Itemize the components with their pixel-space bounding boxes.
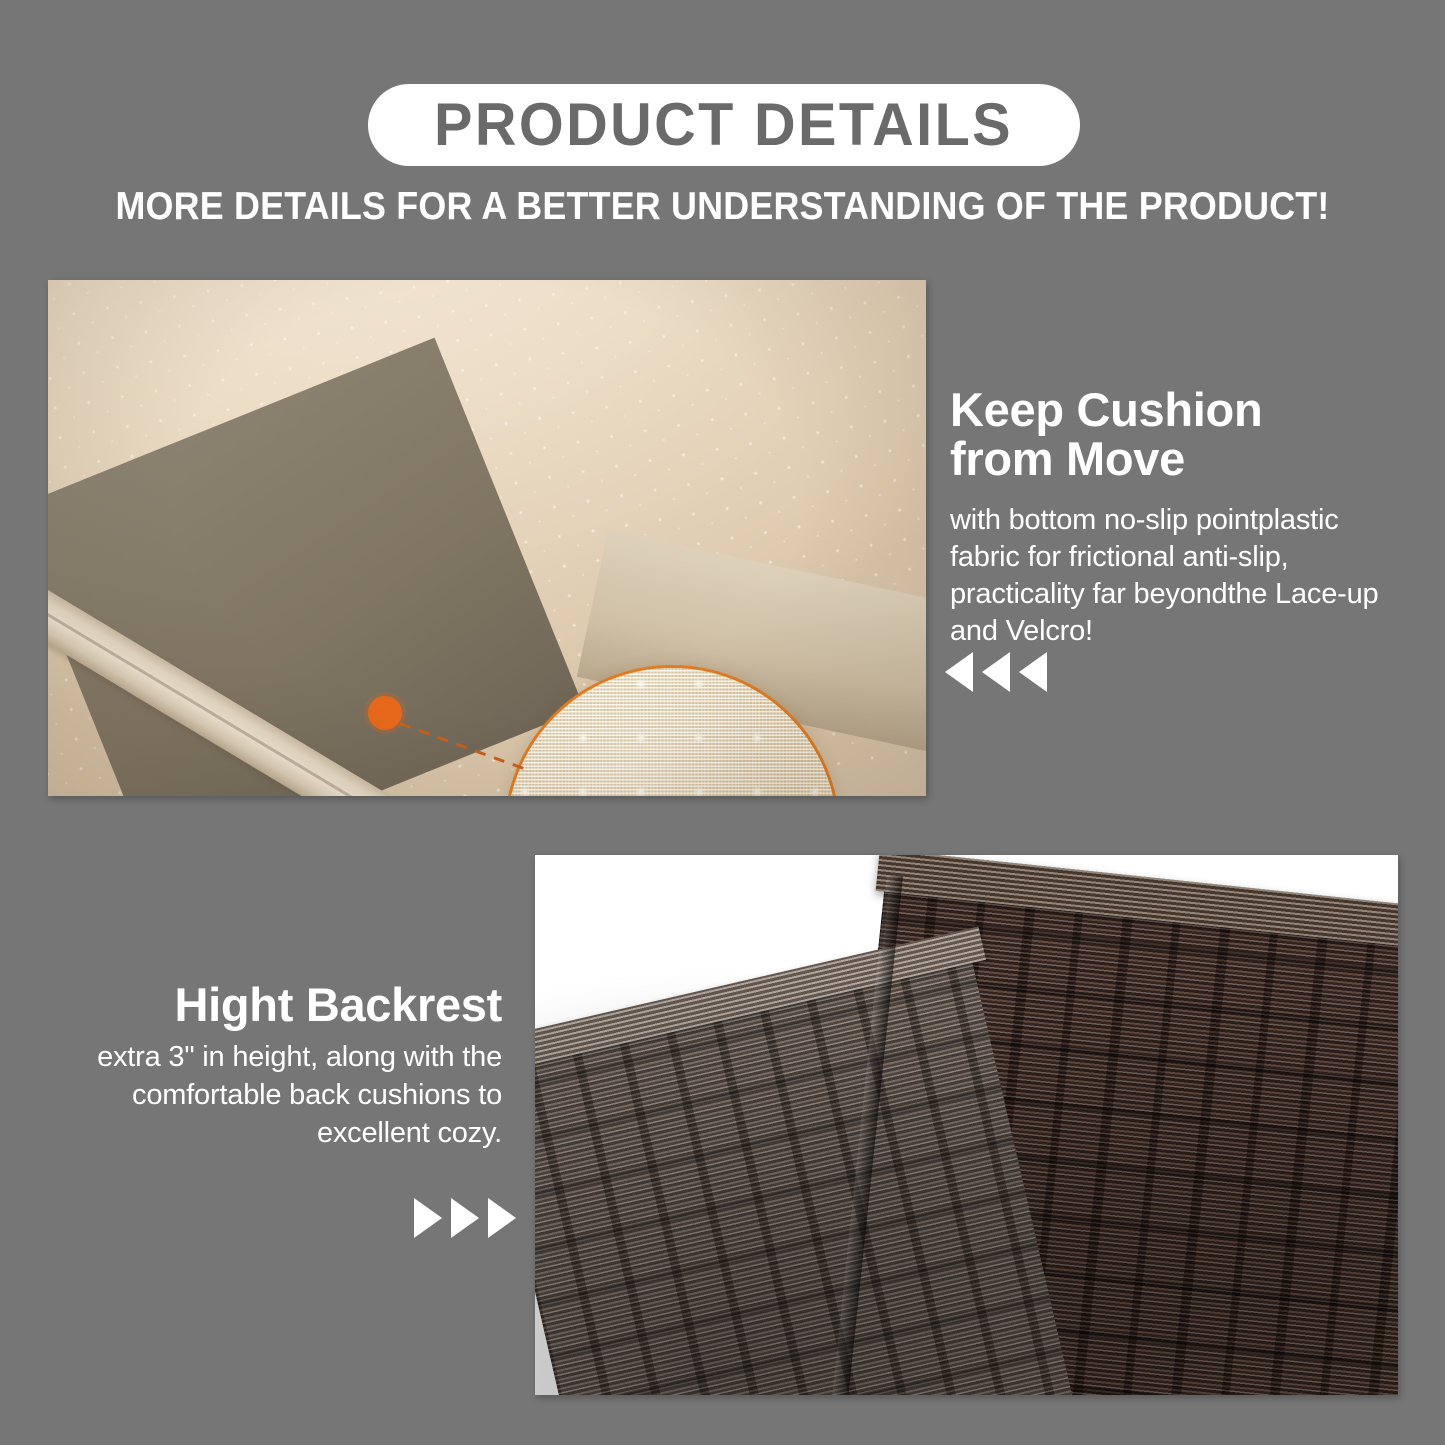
page-title-pill: PRODUCT DETAILS xyxy=(368,84,1080,166)
triangle-left-icon xyxy=(945,652,973,692)
page-header: PRODUCT DETAILS MORE DETAILS FOR A BETTE… xyxy=(0,0,1445,250)
triangle-right-icon xyxy=(488,1198,516,1238)
magnifier-callout-circle xyxy=(504,665,840,796)
arrow-group-right xyxy=(414,1198,516,1238)
feature-backrest-body: extra 3" in height, along with the comfo… xyxy=(60,1039,502,1152)
feature-cushion-body: with bottom no-slip pointplastic fabric … xyxy=(950,502,1380,650)
callout-marker-dot xyxy=(368,696,402,730)
cushion-detail-photo xyxy=(48,280,926,796)
magnifier-shading xyxy=(507,668,837,796)
feature-cushion-headline-line1: Keep Cushion xyxy=(950,383,1262,436)
feature-backrest-headline: Hight Backrest xyxy=(60,980,502,1029)
feature-cushion-text-block: Keep Cushion from Move with bottom no-sl… xyxy=(950,385,1380,650)
triangle-left-icon xyxy=(1019,652,1047,692)
feature-cushion-headline-line2: from Move xyxy=(950,432,1185,485)
arrow-group-left xyxy=(945,652,1047,692)
feature-cushion-headline: Keep Cushion from Move xyxy=(950,385,1380,484)
backrest-detail-photo xyxy=(535,855,1398,1395)
page-subtitle: MORE DETAILS FOR A BETTER UNDERSTANDING … xyxy=(58,187,1387,226)
feature-backrest-text-block: Hight Backrest extra 3" in height, along… xyxy=(60,980,502,1152)
triangle-right-icon xyxy=(414,1198,442,1238)
page-title: PRODUCT DETAILS xyxy=(435,95,1014,155)
triangle-right-icon xyxy=(451,1198,479,1238)
triangle-left-icon xyxy=(982,652,1010,692)
